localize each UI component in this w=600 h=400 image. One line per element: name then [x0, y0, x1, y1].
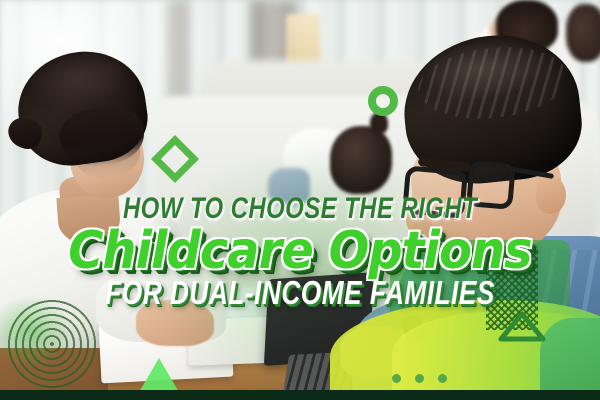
table-lamp — [286, 14, 320, 66]
green-blob-right — [540, 318, 600, 400]
headline-line-3: FOR DUAL-INCOME FAMILIES — [60, 275, 540, 311]
circle-outline-icon — [368, 86, 398, 116]
triangle-outline-icon — [498, 310, 546, 342]
bottom-bar — [0, 390, 600, 400]
headline-line-2: Childcare Options — [24, 224, 576, 278]
blog-banner: HOW TO CHOOSE THE RIGHT Childcare Option… — [0, 0, 600, 400]
headline-block: HOW TO CHOOSE THE RIGHT Childcare Option… — [0, 192, 600, 311]
triangle-solid-icon — [138, 358, 180, 394]
concentric-rings-icon — [6, 298, 98, 390]
background-child-head — [566, 4, 600, 62]
dot-row-icon — [392, 372, 488, 384]
